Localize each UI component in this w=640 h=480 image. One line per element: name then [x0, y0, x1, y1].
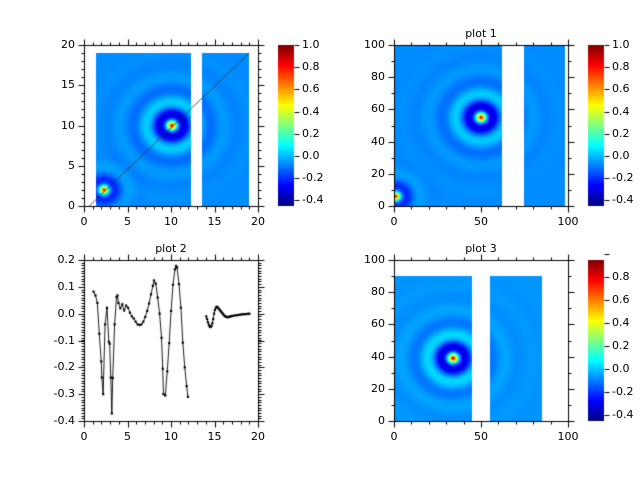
panel-bottom-right-colorbar-tick-label: 0.8 — [612, 270, 640, 283]
panel-bottom-right: plot 3050100020406080100-0.4-0.20.00.20.… — [0, 0, 640, 480]
panel-bottom-right-colorbar-tick-label: 0.4 — [612, 316, 640, 329]
panel-bottom-right-colorbar-tick-label: 0.0 — [612, 362, 640, 375]
panel-bottom-right-colorbar-tick-label: 0.2 — [612, 339, 640, 352]
panel-bottom-right-colorbar-tick-label: 0.6 — [612, 293, 640, 306]
panel-bottom-right-colorbar-tick-label: -0.2 — [612, 385, 640, 398]
panel-bottom-right-colorbar-tick-label: -0.4 — [612, 408, 640, 421]
figure-canvas: 0510152005101520-0.4-0.20.00.20.40.60.81… — [0, 0, 640, 480]
panel-bottom-right-colorbar — [0, 0, 640, 480]
